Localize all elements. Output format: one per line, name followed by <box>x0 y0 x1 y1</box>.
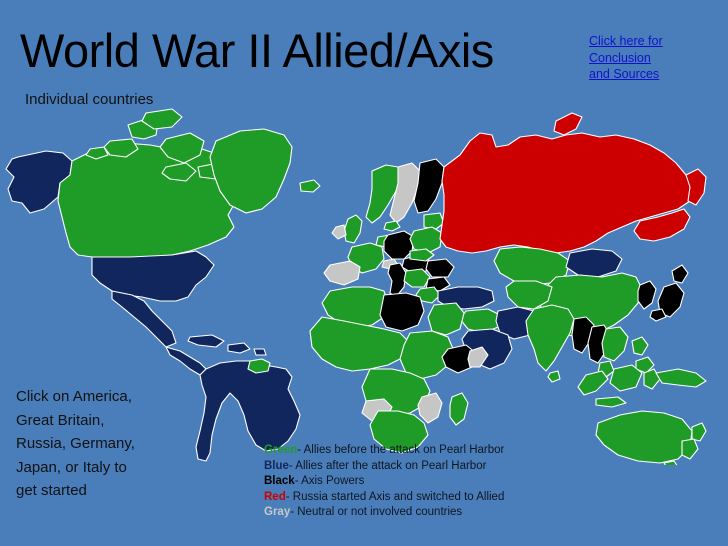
region-borneo[interactable] <box>610 365 642 391</box>
region-new-zealand-south[interactable] <box>682 439 698 459</box>
instructions-line-2: Great Britain, <box>16 409 196 433</box>
region-cuba[interactable] <box>188 335 224 347</box>
country-japan[interactable] <box>672 265 688 283</box>
country-yugoslavia[interactable] <box>404 269 430 287</box>
country-egypt[interactable] <box>428 303 464 335</box>
instructions-line-3: Russia, Germany, <box>16 432 196 456</box>
legend-item-red: Red- Russia started Axis and switched to… <box>264 490 604 506</box>
country-united-states[interactable] <box>92 251 214 301</box>
link-line-3: and Sources <box>589 66 689 83</box>
country-iceland[interactable] <box>300 180 320 192</box>
country-india[interactable] <box>526 305 574 371</box>
country-italy[interactable] <box>388 263 406 297</box>
instructions-line-1: Click on America, <box>16 385 196 409</box>
region-sumatra[interactable] <box>578 371 608 395</box>
instructions-text: Click on America, Great Britain, Russia,… <box>16 385 196 503</box>
country-philippines[interactable] <box>632 337 648 355</box>
country-madagascar[interactable] <box>450 393 468 425</box>
country-new-zealand[interactable] <box>692 423 706 441</box>
link-line-2: Conclusion <box>589 50 689 67</box>
region-iberia[interactable] <box>324 261 360 285</box>
legend-item-blue: Blue- Allies after the attack on Pearl H… <box>264 459 604 475</box>
page-title: World War II Allied/Axis <box>20 22 494 80</box>
region-central-america[interactable] <box>166 347 206 375</box>
country-mozambique[interactable] <box>418 393 442 423</box>
link-line-1: Click here for <box>589 33 689 50</box>
country-korea[interactable] <box>638 281 656 309</box>
country-finland[interactable] <box>414 159 444 213</box>
region-baltic-states[interactable] <box>424 213 444 229</box>
legend-key-green: Green <box>264 444 297 456</box>
country-denmark[interactable] <box>384 221 400 231</box>
region-sulawesi[interactable] <box>644 369 660 389</box>
map-legend: Green- Allies before the attack on Pearl… <box>264 443 604 521</box>
legend-key-blue: Blue <box>264 460 289 472</box>
legend-desc-gray: - Neutral or not involved countries <box>290 506 462 518</box>
legend-key-black: Black <box>264 475 295 487</box>
legend-desc-blue: - Allies after the attack on Pearl Harbo… <box>289 460 487 472</box>
country-australia[interactable] <box>596 411 692 463</box>
legend-item-gray: Gray- Neutral or not involved countries <box>264 505 604 521</box>
slide-canvas: World War II Allied/Axis Individual coun… <box>0 0 728 546</box>
region-hispaniola[interactable] <box>228 343 250 353</box>
region-lesser-antilles[interactable] <box>254 349 266 355</box>
region-guyanas[interactable] <box>248 359 270 373</box>
region-novaya-zemlya[interactable] <box>554 113 582 135</box>
legend-key-red: Red <box>264 491 286 503</box>
legend-key-gray: Gray <box>264 506 290 518</box>
country-libya[interactable] <box>380 293 424 331</box>
legend-desc-green: - Allies before the attack on Pearl Harb… <box>297 444 504 456</box>
legend-desc-black: - Axis Powers <box>295 475 365 487</box>
legend-item-black: Black- Axis Powers <box>264 474 604 490</box>
country-ireland[interactable] <box>332 225 346 239</box>
region-new-guinea[interactable] <box>656 369 706 387</box>
instructions-line-5: get started <box>16 479 196 503</box>
legend-item-green: Green- Allies before the attack on Pearl… <box>264 443 604 459</box>
region-indochina[interactable] <box>602 327 628 361</box>
conclusion-and-sources-link[interactable]: Click here for Conclusion and Sources <box>589 33 689 83</box>
legend-desc-red: - Russia started Axis and switched to Al… <box>286 491 505 503</box>
country-mongolia[interactable] <box>566 249 622 277</box>
country-romania[interactable] <box>426 259 454 277</box>
instructions-line-4: Japan, or Italy to <box>16 456 196 480</box>
region-ceylon[interactable] <box>548 371 560 382</box>
region-java[interactable] <box>596 397 626 407</box>
country-united-kingdom[interactable] <box>344 215 362 243</box>
